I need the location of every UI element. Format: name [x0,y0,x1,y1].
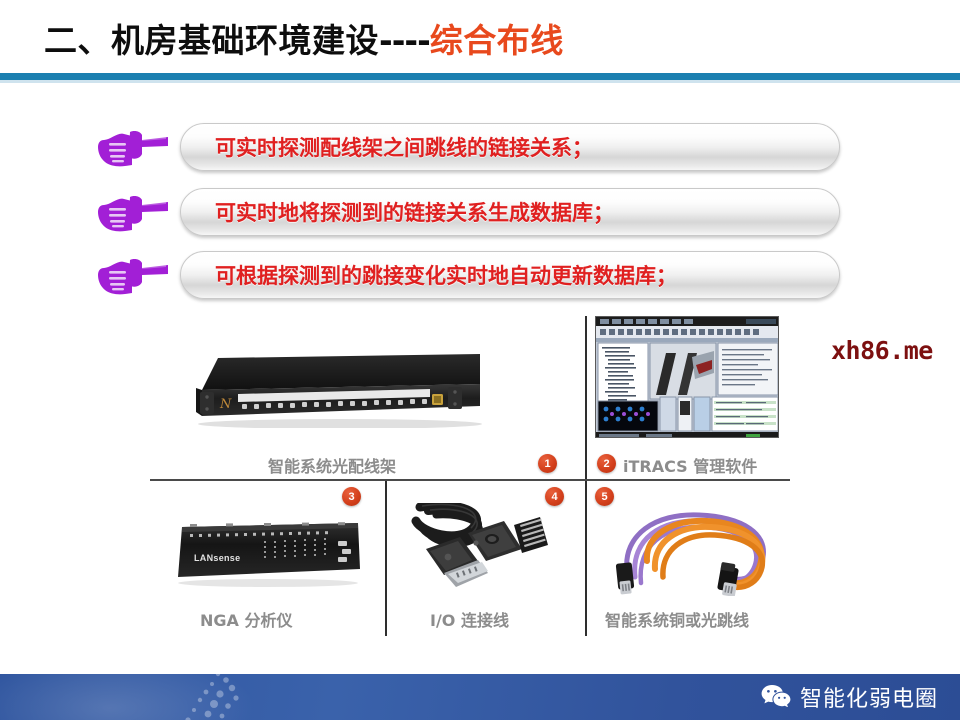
bullet-pill: 可实时探测配线架之间跳线的链接关系； [180,123,840,171]
bullet-pill: 可实时地将探测到的链接关系生成数据库； [180,188,840,236]
product-label: 智能系统铜或光跳线 [605,607,749,631]
fiber-patch-panel-photo: N [180,350,500,428]
product-label: 智能系统光配线架 [268,453,396,477]
pointing-hand-icon [96,124,170,170]
page-title-accent: 综合布线 [430,21,564,60]
nga-analyzer-photo: LANsense [168,517,368,587]
product-cell: 4 I/O 连接线 [390,485,583,640]
product-badge: 4 [545,487,564,506]
wechat-icon [761,683,791,712]
product-grid: N 智能系统光配线架 1 [150,300,790,645]
pointing-hand-icon [96,189,170,235]
svg-text:N: N [219,397,232,412]
watermark-text: xh86.me [831,336,960,365]
footer-dot-pattern [170,674,300,720]
grid-divider-vertical-bottom-right [585,481,587,636]
product-badge: 2 [597,454,616,473]
footer-brand-text: 智能化弱电圈 [800,681,938,713]
product-label: NGA 分析仪 [200,607,292,631]
product-badge: 5 [595,487,614,506]
bullet-text: 可实时探测配线架之间跳线的链接关系； [215,132,593,162]
product-cell: 5 智能系统铜或光跳线 [593,485,790,640]
bullet-text: 可根据探测到的跳接变化实时地自动更新数据库； [215,260,677,290]
product-cell: N 智能系统光配线架 1 [150,308,580,478]
itracs-software-screenshot [595,316,779,438]
product-cell: LANsense 3 NGA 分析仪 [150,485,383,640]
slide-canvas: 二、机房基础环境建设----综合布线 可实时探测配线架之间跳线的链接关系； [0,0,960,720]
bullet-row: 可实时探测配线架之间跳线的链接关系； [96,120,840,174]
io-cable-photo [402,503,552,593]
grid-divider-vertical-bottom-left [385,481,387,636]
page-title-dash: ---- [379,21,430,60]
pointing-hand-icon [96,252,170,298]
bullet-pill: 可根据探测到的跳接变化实时地自动更新数据库； [180,251,840,299]
product-badge: 3 [342,487,361,506]
product-cell: 2 iTRACS 管理软件 [595,308,790,478]
bullet-row: 可根据探测到的跳接变化实时地自动更新数据库； [96,248,840,302]
header-divider-rule [0,73,960,80]
bullet-text: 可实时地将探测到的链接关系生成数据库； [215,197,614,227]
page-title: 二、机房基础环境建设----综合布线 [44,14,564,62]
bullet-row: 可实时地将探测到的链接关系生成数据库； [96,185,840,239]
header-divider-rule-soft [0,80,960,83]
product-label: iTRACS 管理软件 [623,453,757,477]
patch-cords-photo [607,501,782,596]
product-label: I/O 连接线 [430,607,509,631]
grid-divider-horizontal [150,479,790,481]
footer-brand: 智能化弱电圈 [761,674,938,720]
product-badge: 1 [538,454,557,473]
grid-divider-vertical-top [585,316,587,479]
footer-bar: 智能化弱电圈 [0,674,960,720]
page-title-main: 二、机房基础环境建设 [44,21,379,60]
svg-text:LANsense: LANsense [194,553,240,563]
